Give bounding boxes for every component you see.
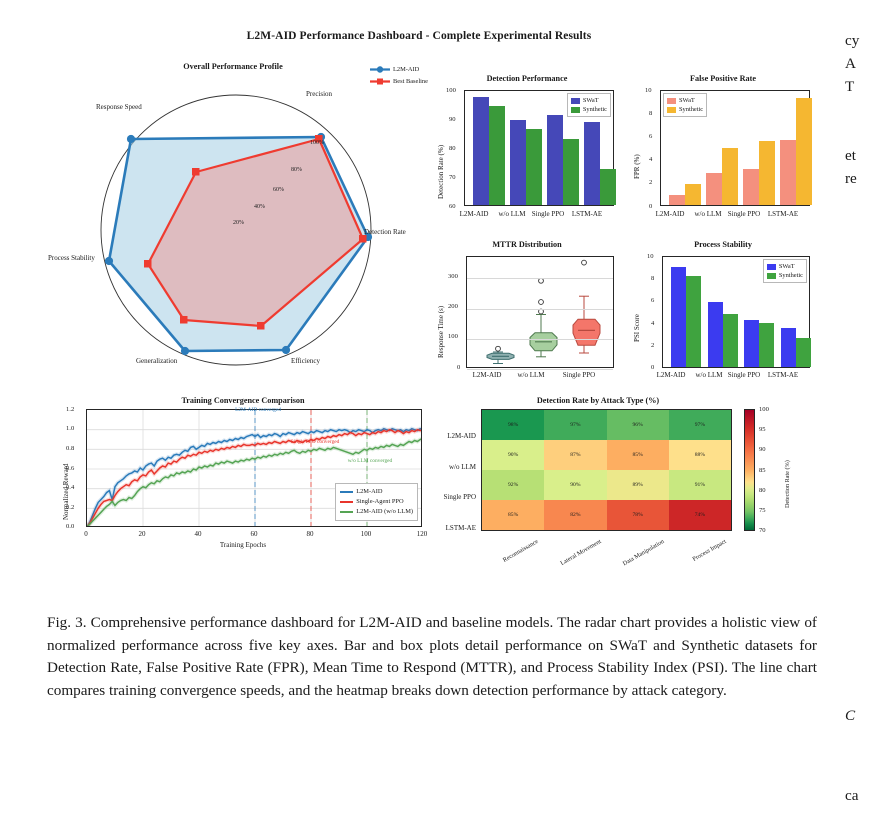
right-fragment-7: ca [845,785,858,808]
conv-xtick-60: 60 [246,530,262,538]
dp-xtick-single-ppo: Single PPO [528,210,568,218]
psi-legend-label-synthetic: Synthetic [779,271,803,280]
psi-axes: SWaT Synthetic [662,256,810,368]
heatmap-cell: 97% [669,410,731,440]
convergence-legend-label-l2m-aid: L2M-AID [356,487,382,497]
psi-ytick-8: 8 [651,275,654,282]
heatmap-colorbar [744,409,755,531]
radar-panel: Overall Performance Profile 100% 80% 60%… [48,62,418,382]
radar-legend-label-best-baseline: Best Baseline [393,77,428,86]
heatmap-cell: 87% [544,440,606,470]
conv-ytick-0.2: 0.2 [66,504,74,511]
convergence-legend-label-wo-llm: L2M-AID (w/o LLM) [356,507,413,517]
heatmap-cell: 92% [482,470,544,500]
heatmap-cell: 82% [544,500,606,530]
heatmap-cell: 78% [607,500,669,530]
fpr-axes: SWaT Synthetic [660,90,810,206]
bar-synthetic-wo-llm [526,129,542,205]
psi-ytick-2: 2 [651,342,654,349]
bar-psi-synthetic-lstm-ae [796,338,811,367]
radar-axis-label-process-stability: Process Stability [48,254,106,262]
convergence-xlabel: Training Epochs [58,541,428,549]
psi-ytick-0: 0 [651,364,654,371]
dp-ytick-60: 60 [449,203,456,210]
bar-fpr-synthetic-lstm-ae [796,98,812,205]
fpr-swat-color-swatch [667,98,676,104]
convergence-legend-item-wo-llm: L2M-AID (w/o LLM) [340,507,413,517]
mttr-ytick-100: 100 [448,333,458,340]
dp-xtick-l2m-aid: L2M-AID [454,210,494,218]
psi-legend-item-synthetic: Synthetic [767,271,803,280]
bar-swat-wo-llm [510,120,526,205]
heatmap-row-label-lstm-ae: LSTM-AE [428,524,476,532]
bar-psi-synthetic-single-ppo [759,323,774,367]
mttr-xtick-wo-llm: w/o LLM [506,371,556,379]
conv-ytick-1.0: 1.0 [66,425,74,432]
annotation-wo-llm-converged: w/o LLM converged [341,458,399,464]
convergence-legend-item-l2m-aid: L2M-AID [340,487,413,497]
radar-legend-item-best-baseline: Best Baseline [370,77,428,86]
annotation-l2m-aid-converged: L2M-AID converged [228,407,288,413]
dp-ytick-100: 100 [446,87,456,94]
bar-synthetic-lstm-ae [600,169,616,205]
false-positive-rate-panel: False Positive Rate FPR (%) SWaT Synthet… [628,74,818,229]
bar-fpr-synthetic-l2m-aid [685,184,701,205]
mttr-xtick-single-ppo: Single PPO [552,371,606,379]
radar-legend-label-l2m-aid: L2M-AID [393,65,419,74]
mttr-xtick-l2m-aid: L2M-AID [462,371,512,379]
legend-item-swat: SWaT [571,96,607,105]
fpr-xtick-wo-llm: w/o LLM [688,210,728,218]
fpr-synthetic-color-swatch [667,107,676,113]
bar-psi-synthetic-wo-llm [723,314,738,367]
psi-swat-color-swatch [767,264,776,270]
radar-radial-tick-80: 80% [291,167,302,173]
mttr-axes [466,256,614,368]
bar-psi-swat-wo-llm [708,302,723,367]
box-wo-llm [530,278,557,356]
detection-performance-panel: Detection Performance Detection Rate (%)… [432,74,622,229]
cbar-tick-90: 90 [759,446,766,453]
heatmap-row-label-wo-llm: w/o LLM [428,463,476,471]
heatmap-title: Detection Rate by Attack Type (%) [428,396,768,405]
radar-axis-label-response-speed: Response Speed [96,103,152,111]
convergence-legend: L2M-AID Single-Agent PPO L2M-AID (w/o LL… [335,483,418,521]
bar-psi-swat-single-ppo [744,320,759,367]
conv-ytick-0.0: 0.0 [66,523,74,530]
dashboard-title: L2M-AID Performance Dashboard - Complete… [0,30,838,42]
figure-caption: Fig. 3. Comprehensive performance dashbo… [47,612,817,702]
single-ppo-line-swatch [340,501,353,503]
radar-legend-item-l2m-aid: L2M-AID [370,65,428,74]
psi-ylabel: PSI Score [633,314,641,342]
synthetic-color-swatch [571,107,580,113]
bar-swat-lstm-ae [584,122,600,205]
psi-xtick-lstm-ae: LSTM-AE [761,371,805,379]
cbar-tick-85: 85 [759,467,766,474]
wo-llm-line-swatch [340,511,353,513]
process-stability-panel: Process Stability PSI Score SWaT Synthet… [628,240,818,390]
mttr-ytick-300: 300 [448,273,458,280]
conv-ytick-0.4: 0.4 [66,484,74,491]
psi-legend-label-swat: SWaT [779,262,795,271]
right-fragment-2: A [845,53,856,76]
fpr-xtick-lstm-ae: LSTM-AE [762,210,804,218]
heatmap-cell: 90% [544,470,606,500]
heatmap-row-label-single-ppo: Single PPO [428,493,476,501]
legend-item-synthetic: Synthetic [571,105,607,114]
legend-label-swat: SWaT [583,96,599,105]
right-fragment-5: re [845,168,857,191]
radar-legend: L2M-AID Best Baseline [370,65,428,86]
dp-ytick-80: 80 [449,145,456,152]
right-fragment-3: T [845,76,854,99]
bar-fpr-synthetic-single-ppo [759,141,775,205]
heatmap-col-label-process-impact: Process Impact [655,538,728,584]
bar-swat-single-ppo [547,115,563,205]
detection-performance-ylabel: Detection Rate (%) [437,145,445,199]
psi-synthetic-color-swatch [767,273,776,279]
heatmap-cell: 96% [607,410,669,440]
radar-axis-label-efficiency: Efficiency [291,357,361,365]
bar-swat-l2m-aid [473,97,489,205]
attack-heatmap-panel: Detection Rate by Attack Type (%) 98%97%… [428,396,820,571]
convergence-legend-item-single-ppo: Single-Agent PPO [340,497,413,507]
right-fragment-1: cy [845,30,859,53]
fpr-ytick-6: 6 [649,133,652,140]
right-fragment-6: C [845,705,855,728]
dp-xtick-wo-llm: w/o LLM [492,210,532,218]
heatmap-cell: 89% [607,470,669,500]
heatmap-cell: 91% [669,470,731,500]
heatmap-cell: 98% [482,410,544,440]
cbar-tick-75: 75 [759,507,766,514]
annotation-single-ppo-converged: Single PPO converged [284,439,346,445]
cbar-tick-70: 70 [759,527,766,534]
radar-radial-tick-20: 20% [233,220,244,226]
figure-dashboard: L2M-AID Performance Dashboard - Complete… [0,0,838,590]
dp-xtick-lstm-ae: LSTM-AE [566,210,608,218]
conv-ytick-0.6: 0.6 [66,465,74,472]
fpr-ylabel: FPR (%) [633,154,641,179]
convergence-legend-label-single-ppo: Single-Agent PPO [356,497,403,507]
convergence-title: Training Convergence Comparison [58,396,428,405]
fpr-xtick-single-ppo: Single PPO [724,210,764,218]
fpr-legend-label-synthetic: Synthetic [679,105,703,114]
heatmap-cell: 74% [669,500,731,530]
conv-ytick-1.2: 1.2 [66,406,74,413]
bar-fpr-swat-wo-llm [706,173,722,206]
cbar-tick-100: 100 [759,406,769,413]
heatmap-row-label-l2m-aid: L2M-AID [428,432,476,440]
fpr-legend-item-swat: SWaT [667,96,703,105]
l2m-aid-line-swatch [340,491,353,493]
radar-radial-tick-100: 100% [310,140,324,146]
mttr-boxes-svg [467,257,615,369]
fpr-legend-label-swat: SWaT [679,96,695,105]
conv-xtick-80: 80 [302,530,318,538]
mttr-ytick-200: 200 [448,303,458,310]
fpr-legend: SWaT Synthetic [663,93,707,117]
radar-axis-label-precision: Precision [306,90,376,98]
bar-psi-swat-l2m-aid [671,267,686,367]
radar-axis-label-generalization: Generalization [136,357,214,365]
convergence-axes: L2M-AID Single-Agent PPO L2M-AID (w/o LL… [86,409,422,527]
bar-synthetic-single-ppo [563,139,579,205]
conv-xtick-0: 0 [78,530,94,538]
conv-xtick-40: 40 [190,530,206,538]
cbar-tick-95: 95 [759,426,766,433]
legend-label-synthetic: Synthetic [583,105,607,114]
detection-performance-title: Detection Performance [432,74,622,83]
mttr-ytick-0: 0 [457,364,460,371]
detection-performance-legend: SWaT Synthetic [567,93,611,117]
bar-fpr-swat-l2m-aid [669,195,685,205]
fpr-ytick-0: 0 [649,203,652,210]
training-convergence-panel: Training Convergence Comparison Normaliz… [58,396,428,556]
psi-ytick-10: 10 [647,253,654,260]
fpr-ytick-10: 10 [645,87,652,94]
conv-xtick-100: 100 [357,530,375,538]
heatmap-cell: 88% [669,440,731,470]
fpr-title: False Positive Rate [628,74,818,83]
bar-psi-swat-lstm-ae [781,328,796,367]
bar-fpr-swat-single-ppo [743,169,759,205]
heatmap-cell: 85% [607,440,669,470]
mttr-title: MTTR Distribution [432,240,622,249]
fpr-ytick-2: 2 [649,179,652,186]
heatmap-cell: 97% [544,410,606,440]
detection-performance-axes: SWaT Synthetic [464,90,614,206]
mttr-ylabel: Response Time (s) [437,306,445,358]
right-fragment-4: et [845,145,856,168]
heatmap-cell: 85% [482,500,544,530]
colorbar-label: Detection Rate (%) [784,460,791,508]
heatmap-grid: 98%97%96%97%90%87%85%88%92%90%89%91%85%8… [481,409,732,531]
bar-fpr-synthetic-wo-llm [722,148,738,205]
cbar-tick-80: 80 [759,487,766,494]
radar-legend-square-icon [370,78,390,85]
fpr-legend-item-synthetic: Synthetic [667,105,703,114]
radar-axis-label-detection-rate: Detection Rate [364,228,424,236]
psi-ytick-4: 4 [651,320,654,327]
psi-legend-item-swat: SWaT [767,262,803,271]
conv-xtick-20: 20 [134,530,150,538]
radar-radial-tick-40: 40% [254,204,265,210]
radar-title: Overall Performance Profile [48,62,418,71]
psi-xtick-l2m-aid: L2M-AID [650,371,692,379]
radar-radial-tick-60: 60% [273,187,284,193]
bar-fpr-swat-lstm-ae [780,140,796,205]
dp-ytick-90: 90 [449,116,456,123]
bar-synthetic-l2m-aid [489,106,505,205]
radar-legend-line-icon [370,66,390,73]
box-l2m-aid [487,346,514,363]
dp-ytick-70: 70 [449,174,456,181]
fpr-ytick-8: 8 [649,110,652,117]
psi-title: Process Stability [628,240,818,249]
psi-ytick-6: 6 [651,297,654,304]
conv-ytick-0.8: 0.8 [66,445,74,452]
psi-xtick-single-ppo: Single PPO [724,371,764,379]
fpr-xtick-l2m-aid: L2M-AID [650,210,690,218]
swat-color-swatch [571,98,580,104]
bar-psi-synthetic-l2m-aid [686,276,701,367]
psi-legend: SWaT Synthetic [763,259,807,283]
heatmap-cell: 90% [482,440,544,470]
fpr-ytick-4: 4 [649,156,652,163]
mttr-panel: MTTR Distribution Response Time (s) [432,240,622,390]
